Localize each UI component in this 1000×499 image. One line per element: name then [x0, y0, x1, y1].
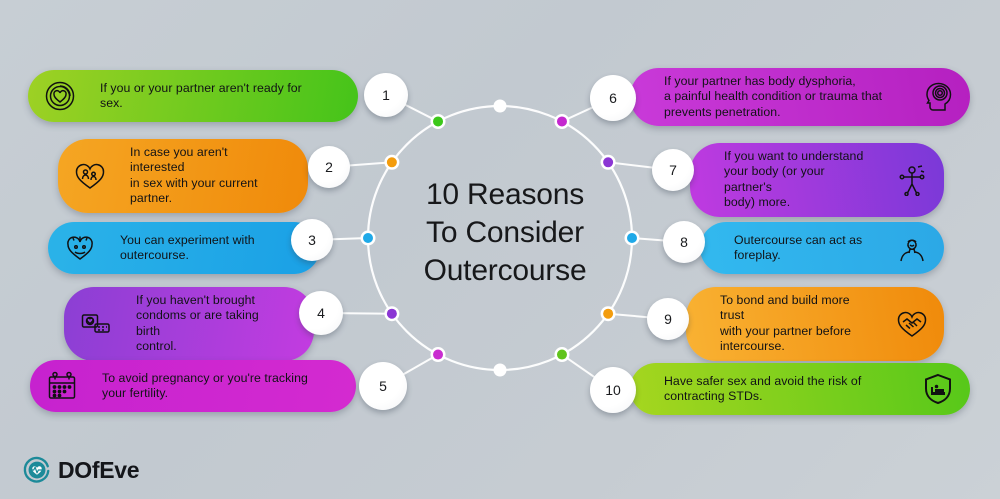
step-number-1[interactable]: 1 — [364, 73, 408, 117]
reason-pill-5[interactable]: To avoid pregnancy or you're tracking yo… — [30, 360, 356, 412]
ring-node-5 — [433, 350, 443, 360]
ring-node-halo-7 — [601, 155, 616, 170]
reason-pill-7[interactable]: If you want to understand your body (or … — [690, 143, 944, 217]
step-number-3[interactable]: 3 — [291, 219, 333, 261]
step-number-2[interactable]: 2 — [308, 146, 350, 188]
reason-pill-6[interactable]: If your partner has body dysphoria, a pa… — [630, 68, 970, 126]
step-number-6[interactable]: 6 — [590, 75, 636, 121]
couple-kiss-icon — [892, 228, 932, 268]
reason-text-8: Outercourse can act as foreplay. — [734, 233, 872, 264]
ring-node-halo-10 — [554, 347, 569, 362]
reason-pill-1[interactable]: If you or your partner aren't ready for … — [28, 70, 358, 122]
body-figure-icon — [892, 160, 932, 200]
condom-pack-icon — [76, 304, 116, 344]
reason-pill-2[interactable]: In case you aren't interested in sex wit… — [58, 139, 308, 213]
heart-handshake-icon — [892, 304, 932, 344]
heart-face-icon — [60, 228, 100, 268]
shield-bed-icon — [918, 369, 958, 409]
reason-text-5: To avoid pregnancy or you're tracking yo… — [102, 371, 322, 402]
ring-node-10 — [557, 350, 567, 360]
step-number-7[interactable]: 7 — [652, 149, 694, 191]
step-number-9[interactable]: 9 — [647, 298, 689, 340]
reason-text-3: You can experiment with outercourse. — [120, 233, 286, 264]
ring-node-halo-4 — [384, 306, 399, 321]
ring-node-halo-1 — [431, 114, 446, 129]
ring-node-6 — [557, 116, 567, 126]
reason-text-1: If you or your partner aren't ready for … — [100, 81, 324, 112]
step-number-4[interactable]: 4 — [299, 291, 343, 335]
brand-logo: DOfEve — [22, 455, 139, 485]
step-number-10[interactable]: 10 — [590, 367, 636, 413]
page-title: 10 Reasons To Consider Outercourse — [370, 176, 640, 290]
heartbeat-circle-icon — [22, 455, 52, 485]
ring-node-2 — [387, 157, 397, 167]
infographic-canvas: 10 Reasons To Consider Outercourse If yo… — [0, 0, 1000, 499]
ring-node-halo-5 — [431, 347, 446, 362]
ring-node-7 — [603, 157, 613, 167]
step-number-5[interactable]: 5 — [359, 362, 407, 410]
hub-bottom-node — [494, 364, 507, 377]
ring-node-halo-2 — [384, 155, 399, 170]
hub-top-node — [494, 100, 507, 113]
ring-node-9 — [603, 309, 613, 319]
reason-pill-3[interactable]: You can experiment with outercourse. — [48, 222, 320, 274]
reason-text-4: If you haven't brought condoms or are ta… — [136, 293, 280, 355]
reason-pill-9[interactable]: To bond and build more trust with your p… — [686, 287, 944, 361]
heart-two-people-icon — [70, 156, 110, 196]
head-mind-icon — [918, 77, 958, 117]
ring-node-halo-9 — [601, 306, 616, 321]
reason-text-2: In case you aren't interested in sex wit… — [130, 145, 274, 207]
ring-node-halo-6 — [554, 114, 569, 129]
reason-text-9: To bond and build more trust with your p… — [720, 293, 872, 355]
brand-name: DOfEve — [58, 457, 139, 484]
ring-node-1 — [433, 116, 443, 126]
heart-in-circle-icon — [40, 76, 80, 116]
reason-text-6: If your partner has body dysphoria, a pa… — [664, 74, 898, 120]
reason-pill-4[interactable]: If you haven't brought condoms or are ta… — [64, 287, 314, 361]
reason-text-7: If you want to understand your body (or … — [724, 149, 872, 211]
reason-text-10: Have safer sex and avoid the risk of con… — [664, 374, 898, 405]
reason-pill-8[interactable]: Outercourse can act as foreplay. — [700, 222, 944, 274]
calendar-icon — [42, 366, 82, 406]
ring-node-4 — [387, 309, 397, 319]
reason-pill-10[interactable]: Have safer sex and avoid the risk of con… — [630, 363, 970, 415]
step-number-8[interactable]: 8 — [663, 221, 705, 263]
